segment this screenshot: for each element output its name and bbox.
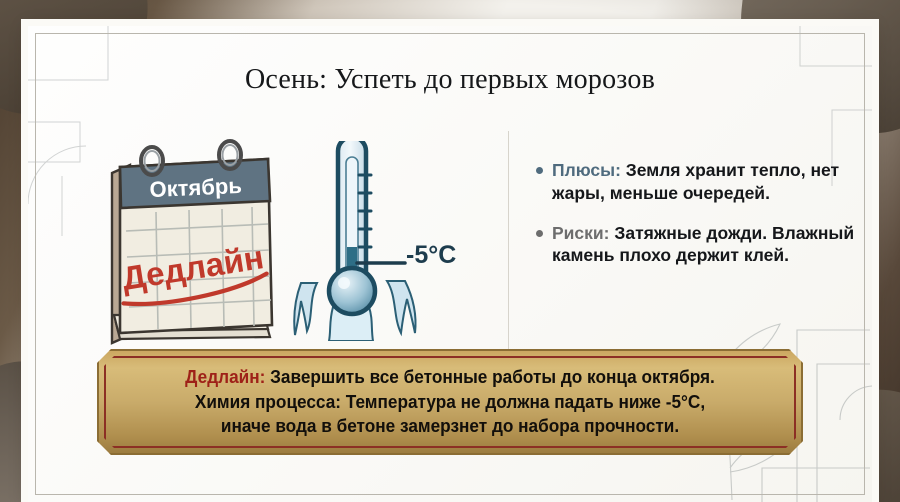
bullet-label: Плюсы: xyxy=(552,160,621,180)
thermometer-reading-label: -5°C xyxy=(406,241,456,270)
content-row: Октябрь Дедлайн xyxy=(88,131,818,356)
page-title: Осень: Успеть до первых морозов xyxy=(28,64,872,96)
calendar-month-label: Октябрь xyxy=(149,173,242,202)
plaque-line-3: иначе вода в бетоне замерзнет до набора … xyxy=(221,414,679,439)
bullet-text: Риски: Затяжные дожди. Влажный камень пл… xyxy=(552,222,866,268)
bullet-label: Риски: xyxy=(552,223,610,243)
list-item: Риски: Затяжные дожди. Влажный камень пл… xyxy=(536,222,866,268)
ice-drip-right xyxy=(387,281,416,333)
list-item: Плюсы: Земля хранит тепло, нет жары, мен… xyxy=(536,159,866,205)
calendar-october-icon: Октябрь Дедлайн xyxy=(90,139,290,354)
thermometer-bulb xyxy=(329,268,375,314)
slide-stage: Осень: Успеть до первых морозов xyxy=(0,0,900,502)
bullet-dot-icon xyxy=(536,167,543,174)
column-divider xyxy=(508,131,509,356)
plaque-chemistry-label: Химия процесса: xyxy=(195,391,341,412)
plaque-chemistry-text: Температура не должна падать ниже -5°C, xyxy=(341,391,705,412)
bullet-text: Плюсы: Земля хранит тепло, нет жары, мен… xyxy=(552,159,866,205)
bullet-list: Плюсы: Земля хранит тепло, нет жары, мен… xyxy=(536,159,866,284)
illustration-group: Октябрь Дедлайн xyxy=(88,131,448,356)
plaque-line-2: Химия процесса: Температура не должна па… xyxy=(195,390,705,415)
plaque-deadline-label: Дедлайн: xyxy=(185,366,265,387)
ice-drip-left xyxy=(294,283,317,335)
deadline-plaque: Дедлайн: Завершить все бетонные работы д… xyxy=(97,349,803,455)
plaque-text: Дедлайн: Завершить все бетонные работы д… xyxy=(122,349,779,455)
thermometer-icon xyxy=(293,141,423,341)
plaque-deadline-text: Завершить все бетонные работы до конца о… xyxy=(265,366,714,387)
plaque-line-1: Дедлайн: Завершить все бетонные работы д… xyxy=(185,365,715,390)
bullet-dot-icon xyxy=(536,230,543,237)
